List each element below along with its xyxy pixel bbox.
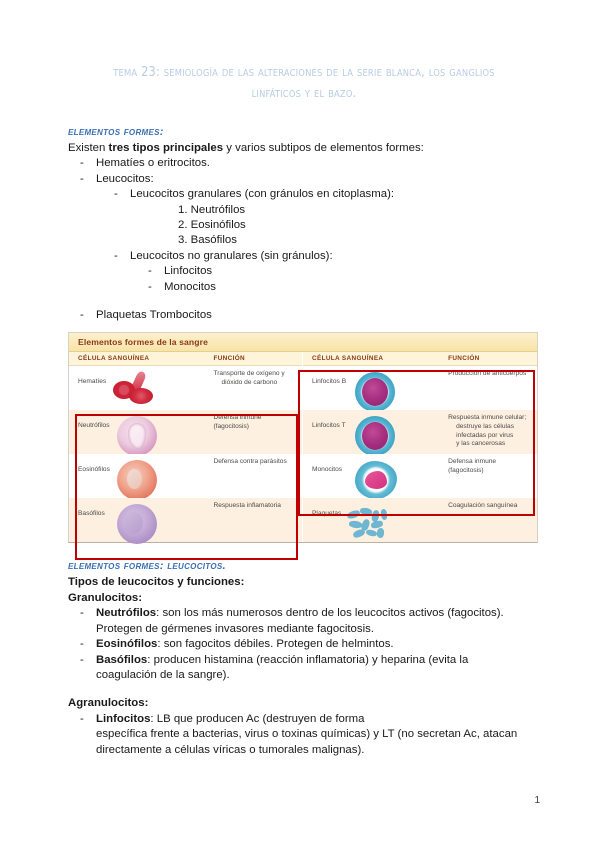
table-row: Hematíes Transporte de oxígeno y dióxido… (69, 366, 302, 410)
bullet-basofilos-label: Basófilos (96, 654, 147, 666)
column-header-cell-left: CÉLULA SANGUÍNEA (69, 355, 213, 362)
group-agranulocitos: Agranulocitos: (68, 696, 540, 711)
eosinophil-illustration (107, 459, 173, 499)
figure-left-column-header: CÉLULA SANGUÍNEA FUNCIÓN (69, 352, 302, 366)
bullet-linfocitos-text2: específica frente a bacterias, virus o t… (68, 727, 540, 742)
bullet-neutrofilos-text2: Protegen de gérmenes invasores mediante … (68, 622, 540, 637)
figure-right-column: CÉLULA SANGUÍNEA FUNCIÓN Linfocitos B (303, 352, 537, 542)
table-row: Eosinófilos Defensa contra parásitos (69, 454, 302, 498)
cell-function-line4: y las cancerosas (448, 440, 529, 449)
intro-prefix: Existen (68, 142, 109, 154)
column-header-function-right: FUNCIÓN (448, 355, 537, 362)
list-item-leucocitos: Leucocitos: (68, 172, 540, 187)
basophil-illustration (107, 503, 173, 543)
bullet-neutrofilos: Neutrófilos: son los más numerosos dentr… (68, 606, 540, 621)
cell-label: Linfocitos B (312, 378, 346, 385)
section-heading-elementos-formes: Elementos formes: (68, 126, 540, 138)
lymphocyte-b-illustration (341, 371, 407, 411)
section-heading-leucocitos: Elementos formes: leucocitos. (68, 560, 540, 572)
list-item-neutrofilos: 1. Neutrófilos (68, 203, 540, 218)
monocyte-illustration (341, 459, 407, 499)
cell-function: Defensa inmune (fagocitosis) (448, 458, 529, 475)
cell-function: Respuesta inmune celular; (448, 414, 529, 423)
list-item-hematies: Hematíes o eritrocitos. (68, 156, 540, 171)
bullet-eosinofilos-text: : son fagocitos débiles. Protegen de hel… (157, 638, 393, 650)
page-number: 1 (534, 795, 540, 806)
bullet-eosinofilos-label: Eosinófilos (96, 638, 157, 650)
list-item-granulares: Leucocitos granulares (con gránulos en c… (68, 187, 540, 202)
erythrocytes-illustration (107, 371, 173, 411)
cell-label: Basófilos (78, 510, 105, 517)
document-page: TEMA 23: SEMIOLOGÍA DE LAS ALTERACIONES … (0, 0, 600, 848)
cell-label: Linfocitos T (312, 422, 346, 429)
cell-function: Transporte de oxígeno y (213, 370, 294, 379)
list-item-no-granulares: Leucocitos no granulares (sin gránulos): (68, 249, 540, 264)
cell-function: Defensa contra parásitos (213, 458, 294, 467)
bullet-basofilos: Basófilos: producen histamina (reacción … (68, 653, 540, 668)
group-granulocitos: Granulocitos: (68, 591, 540, 606)
table-row: Neutrófilos Defensa inmune (fagocitosis) (69, 410, 302, 454)
column-header-cell-right: CÉLULA SANGUÍNEA (303, 355, 448, 362)
bullet-basofilos-text: : producen histamina (reacción inflamato… (147, 654, 468, 666)
cell-function-line3: infectadas por virus (448, 432, 529, 441)
figure-right-column-header: CÉLULA SANGUÍNEA FUNCIÓN (303, 352, 537, 366)
cell-function: Producción de anticuerpos (448, 370, 529, 379)
list-item-linfocitos: Linfocitos (68, 264, 540, 279)
intro-bold: tres tipos principales (109, 142, 224, 154)
bullet-linfocitos-text3: directamente a células víricas o tumoral… (68, 743, 540, 758)
bullet-basofilos-text2: coagulación de la sangre). (68, 668, 540, 683)
table-row: Plaquetas (303, 498, 537, 542)
bullet-neutrofilos-label: Neutrófilos (96, 607, 156, 619)
lymphocyte-t-illustration (341, 415, 407, 455)
cell-label: Monocitos (312, 466, 342, 473)
platelets-illustration (341, 503, 407, 543)
table-row: Linfocitos B Producción de anticuerpos (303, 366, 537, 410)
figure-title: Elementos formes de la sangre (69, 333, 537, 352)
column-header-function-left: FUNCIÓN (213, 355, 302, 362)
bullet-linfocitos: Linfocitos: LB que producen Ac (destruye… (68, 712, 540, 727)
bullet-eosinofilos: Eosinófilos: son fagocitos débiles. Prot… (68, 637, 540, 652)
cell-function-line2: dióxido de carbono (213, 379, 294, 388)
cell-label: Eosinófilos (78, 466, 110, 473)
cell-function: Defensa inmune (fagocitosis) (213, 414, 294, 431)
list-item-eosinofilos: 2. Eosinófilos (68, 218, 540, 233)
blood-elements-figure: Elementos formes de la sangre CÉLULA SAN… (68, 332, 538, 543)
table-row: Basófilos Respuesta inflamatoria (69, 498, 302, 542)
list-item-monocitos: Monocitos (68, 280, 540, 295)
cell-label: Neutrófilos (78, 422, 110, 429)
intro-paragraph: Existen tres tipos principales y varios … (68, 141, 540, 156)
table-row: Monocitos Defensa inmune (fagocitosis) (303, 454, 537, 498)
cell-function: Coagulación sanguínea (448, 502, 529, 511)
page-title: TEMA 23: SEMIOLOGÍA DE LAS ALTERACIONES … (85, 62, 524, 104)
cell-function-line2: destruye las células (448, 423, 529, 432)
intro-suffix: y varios subtipos de elementos formes: (223, 142, 424, 154)
subtitle-tipos-leucocitos: Tipos de leucocitos y funciones: (68, 575, 540, 590)
bullet-neutrofilos-text: : son los más numerosos dentro de los le… (156, 607, 504, 619)
cell-label: Hematíes (78, 378, 106, 385)
bullet-linfocitos-text: : LB que producen Ac (destruyen de forma (150, 713, 364, 725)
list-item-plaquetas: Plaquetas Trombocitos (68, 308, 540, 323)
cell-function: Respuesta inflamatoria (213, 502, 294, 511)
bullet-linfocitos-label: Linfocitos (96, 713, 150, 725)
list-item-basofilos: 3. Basófilos (68, 233, 540, 248)
neutrophil-illustration (107, 415, 173, 455)
figure-left-column: CÉLULA SANGUÍNEA FUNCIÓN Hematíes (69, 352, 303, 542)
cell-label: Plaquetas (312, 510, 341, 517)
table-row: Linfocitos T Respuesta inmune celular; d… (303, 410, 537, 454)
